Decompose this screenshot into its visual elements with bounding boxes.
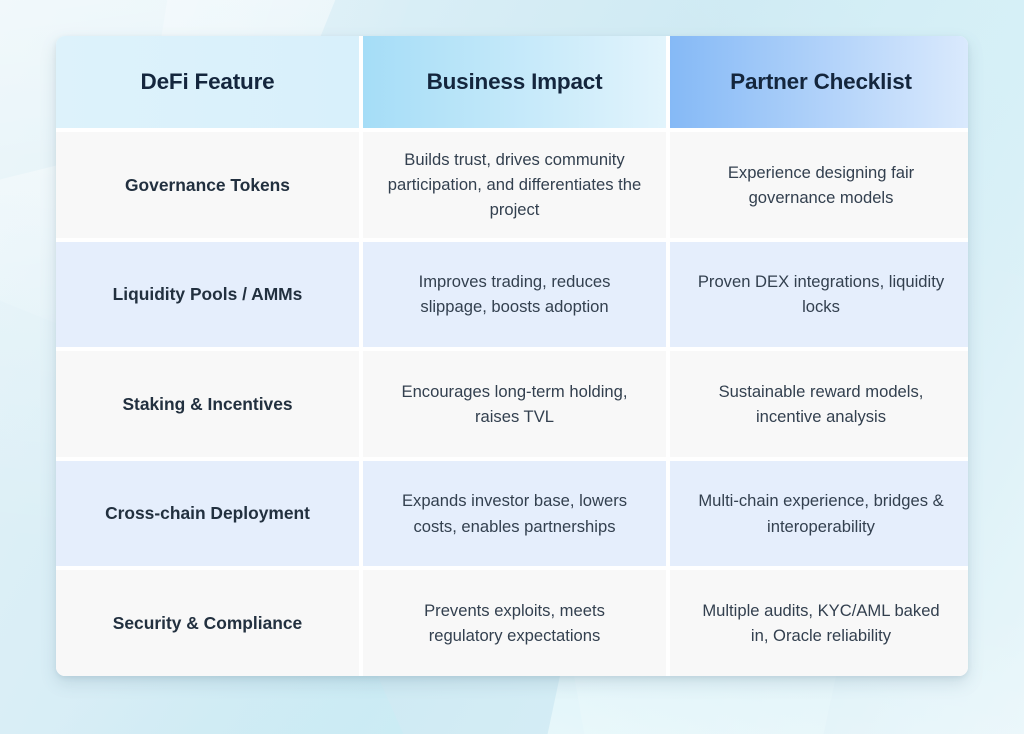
column-header-partner-checklist: Partner Checklist	[670, 36, 968, 128]
cell-business-impact: Builds trust, drives community participa…	[363, 132, 666, 238]
cell-text: Proven DEX integrations, liquidity locks	[692, 269, 950, 319]
cell-defi-feature: Liquidity Pools / AMMs	[56, 242, 359, 348]
column-header-label: Business Impact	[427, 69, 603, 95]
cell-text: Cross-chain Deployment	[105, 500, 310, 526]
table-row: Cross-chain Deployment Expands investor …	[56, 461, 968, 567]
cell-text: Improves trading, reduces slippage, boos…	[385, 269, 644, 319]
table-row: Security & Compliance Prevents exploits,…	[56, 570, 968, 676]
cell-text: Governance Tokens	[125, 172, 290, 198]
cell-text: Builds trust, drives community participa…	[385, 147, 644, 223]
cell-text: Experience designing fair governance mod…	[692, 160, 950, 210]
cell-business-impact: Improves trading, reduces slippage, boos…	[363, 242, 666, 348]
cell-text: Multi-chain experience, bridges & intero…	[692, 488, 950, 538]
comparison-table: DeFi Feature Business Impact Partner Che…	[56, 36, 968, 676]
cell-text: Expands investor base, lowers costs, ena…	[385, 488, 644, 538]
cell-partner-checklist: Multiple audits, KYC/AML baked in, Oracl…	[670, 570, 968, 676]
cell-partner-checklist: Experience designing fair governance mod…	[670, 132, 968, 238]
cell-text: Security & Compliance	[113, 610, 302, 636]
column-header-label: DeFi Feature	[141, 69, 275, 95]
column-header-business-impact: Business Impact	[363, 36, 666, 128]
cell-partner-checklist: Sustainable reward models, incentive ana…	[670, 351, 968, 457]
cell-text: Staking & Incentives	[122, 391, 292, 417]
cell-defi-feature: Staking & Incentives	[56, 351, 359, 457]
cell-text: Prevents exploits, meets regulatory expe…	[385, 598, 644, 648]
column-header-label: Partner Checklist	[730, 69, 912, 95]
cell-text: Liquidity Pools / AMMs	[113, 281, 303, 307]
cell-text: Sustainable reward models, incentive ana…	[692, 379, 950, 429]
table-header-row: DeFi Feature Business Impact Partner Che…	[56, 36, 968, 128]
cell-partner-checklist: Proven DEX integrations, liquidity locks	[670, 242, 968, 348]
table-row: Liquidity Pools / AMMs Improves trading,…	[56, 242, 968, 348]
table-row: Staking & Incentives Encourages long-ter…	[56, 351, 968, 457]
cell-text: Encourages long-term holding, raises TVL	[385, 379, 644, 429]
table-row: Governance Tokens Builds trust, drives c…	[56, 132, 968, 238]
cell-defi-feature: Governance Tokens	[56, 132, 359, 238]
cell-text: Multiple audits, KYC/AML baked in, Oracl…	[692, 598, 950, 648]
cell-business-impact: Encourages long-term holding, raises TVL	[363, 351, 666, 457]
column-header-defi-feature: DeFi Feature	[56, 36, 359, 128]
cell-defi-feature: Security & Compliance	[56, 570, 359, 676]
cell-business-impact: Expands investor base, lowers costs, ena…	[363, 461, 666, 567]
cell-partner-checklist: Multi-chain experience, bridges & intero…	[670, 461, 968, 567]
cell-business-impact: Prevents exploits, meets regulatory expe…	[363, 570, 666, 676]
cell-defi-feature: Cross-chain Deployment	[56, 461, 359, 567]
